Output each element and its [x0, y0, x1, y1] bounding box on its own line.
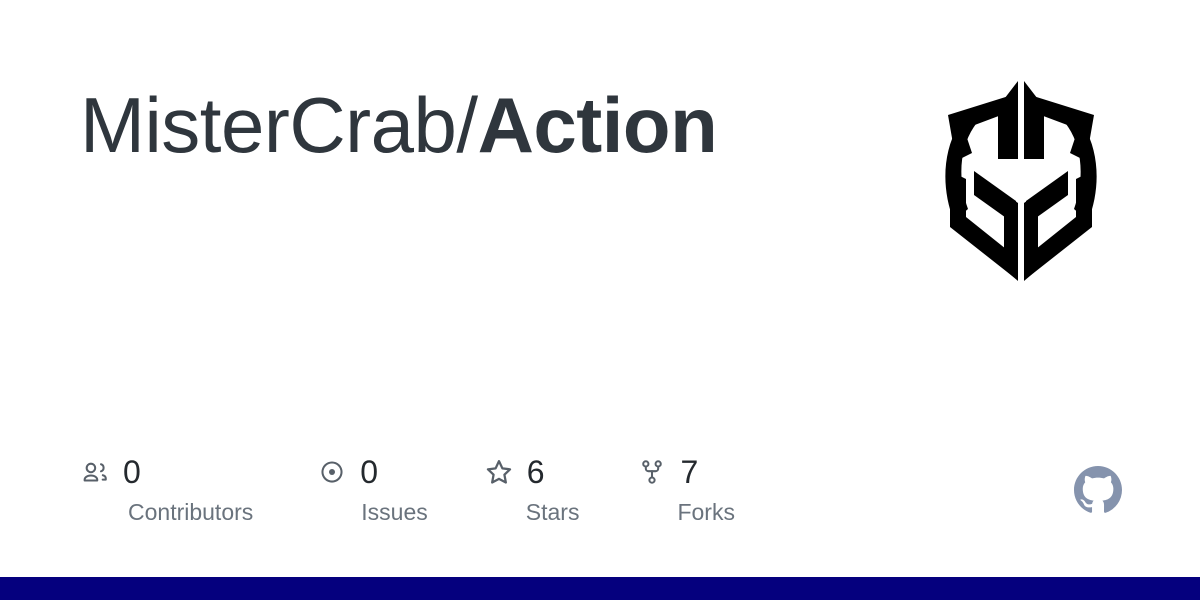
stat-contributors: 0 Contributors [80, 452, 253, 524]
stat-contributors-label: Contributors [128, 501, 253, 524]
stat-contributors-value: 0 [123, 456, 141, 488]
stat-issues-value: 0 [360, 456, 378, 488]
issue-opened-icon [317, 457, 347, 487]
repo-forked-icon [637, 457, 667, 487]
stat-issues: 0 Issues [317, 452, 427, 524]
people-icon [80, 457, 110, 487]
github-octocat-icon [1074, 466, 1122, 514]
stat-stars-label: Stars [526, 501, 580, 524]
stat-contributors-top: 0 [80, 452, 141, 492]
stat-issues-top: 0 [317, 452, 378, 492]
stat-forks-top: 7 [637, 452, 698, 492]
stat-forks: 7 Forks [637, 452, 735, 524]
repository-social-preview-card: MisterCrab / Action [0, 0, 1200, 600]
repository-stats: 0 Contributors 0 Issues [80, 452, 735, 524]
stat-stars: 6 Stars [484, 452, 580, 524]
repository-name: Action [478, 86, 718, 164]
stat-stars-value: 6 [527, 456, 545, 488]
bottom-accent-bar [0, 577, 1200, 600]
stat-stars-top: 6 [484, 452, 545, 492]
stat-forks-value: 7 [680, 456, 698, 488]
repository-owner-name: MisterCrab [80, 86, 456, 164]
star-icon [484, 457, 514, 487]
stat-forks-label: Forks [677, 501, 735, 524]
stat-issues-label: Issues [361, 501, 427, 524]
spartan-helmet-shield-logo-icon [928, 75, 1114, 285]
page-title: MisterCrab / Action [80, 86, 717, 164]
title-separator: / [456, 86, 477, 164]
